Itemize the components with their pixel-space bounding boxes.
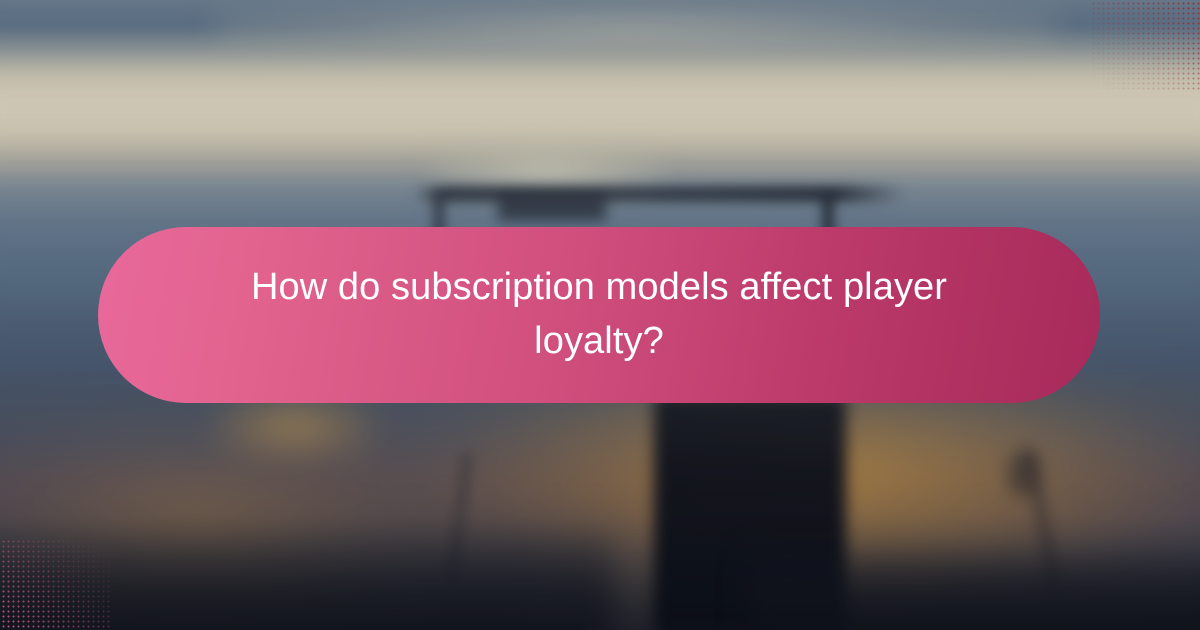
crane-arm-left-silhouette xyxy=(448,452,471,582)
social-share-card: How do subscription models affect player… xyxy=(0,0,1200,630)
dot-grid-bottom-left-decoration xyxy=(0,538,110,630)
sunset-highlight xyxy=(216,395,372,459)
crane-head-right-silhouette xyxy=(1008,452,1038,496)
crane-arm-right-silhouette xyxy=(1024,448,1062,597)
cloud-puff xyxy=(432,150,660,194)
dot-grid-top-right-decoration xyxy=(1090,0,1200,92)
cloud-streak xyxy=(216,8,1056,50)
crane-jib-silhouette xyxy=(414,186,906,202)
crane-counterweight-silhouette xyxy=(498,195,606,221)
sunset-glow xyxy=(0,380,1200,610)
foreground-mass-left xyxy=(0,520,612,630)
cloud-band xyxy=(0,40,1200,170)
foreground-mass-right xyxy=(744,540,1200,630)
headline-pill: How do subscription models affect player… xyxy=(98,227,1100,403)
headline-title: How do subscription models affect player… xyxy=(239,261,959,369)
building-tower-silhouette xyxy=(654,395,846,630)
